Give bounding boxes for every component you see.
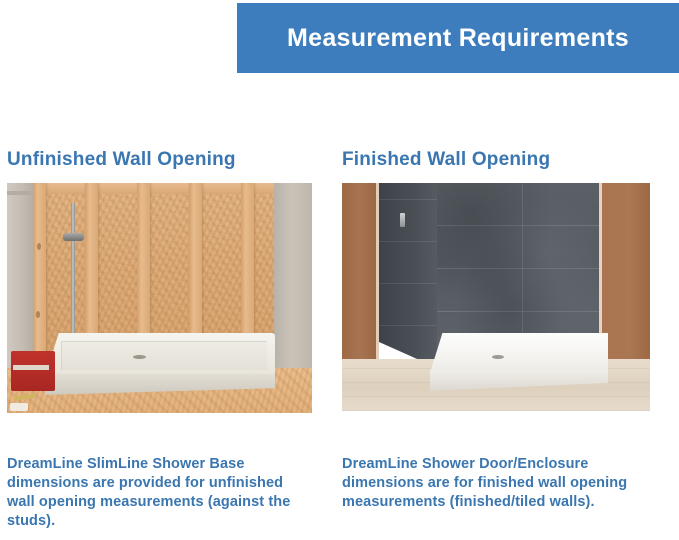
shower-supply-pipe <box>71 203 75 343</box>
wood-knot <box>37 243 41 250</box>
shower-base-apron <box>45 374 275 395</box>
toolbox-handle <box>13 365 49 370</box>
caption-unfinished: DreamLine SlimLine Shower Base dimension… <box>7 455 307 530</box>
shower-base-basin <box>61 341 267 370</box>
pipe-valve-fitting <box>63 233 84 241</box>
adjacent-tan-wall-right <box>602 183 650 363</box>
wall-trim <box>7 191 33 195</box>
shower-base-pan <box>45 333 275 377</box>
shower-base-finished <box>430 333 608 391</box>
slate-tile-side-wall <box>379 183 437 368</box>
caption-finished: DreamLine Shower Door/Enclosure dimensio… <box>342 455 652 512</box>
page-title: Measurement Requirements <box>287 26 629 51</box>
slate-tile-back-wall <box>436 183 599 355</box>
floor-debris <box>10 403 28 411</box>
slimline-shower-base <box>45 333 275 395</box>
panel-heading-unfinished: Unfinished Wall Opening <box>7 150 327 171</box>
shower-base-pan <box>430 333 608 373</box>
adjacent-tan-wall-left <box>342 183 376 361</box>
wall-corner-edge-left <box>376 183 379 361</box>
panel-heading-finished: Finished Wall Opening <box>342 150 672 171</box>
adjacent-gray-wall-right <box>274 183 312 398</box>
panel-finished: Finished Wall Opening <box>342 150 672 411</box>
red-toolbox <box>11 351 55 391</box>
header-banner: Measurement Requirements <box>237 3 679 73</box>
drain-icon <box>133 355 146 359</box>
panel-unfinished: Unfinished Wall Opening <box>7 150 327 413</box>
photo-finished-wall-opening <box>342 183 650 411</box>
drain-icon <box>492 355 504 359</box>
shower-fixture-icon <box>400 213 405 227</box>
top-plate <box>33 183 274 194</box>
photo-unfinished-wall-opening <box>7 183 312 413</box>
shower-base-apron <box>430 370 608 391</box>
wood-knot <box>36 311 40 318</box>
